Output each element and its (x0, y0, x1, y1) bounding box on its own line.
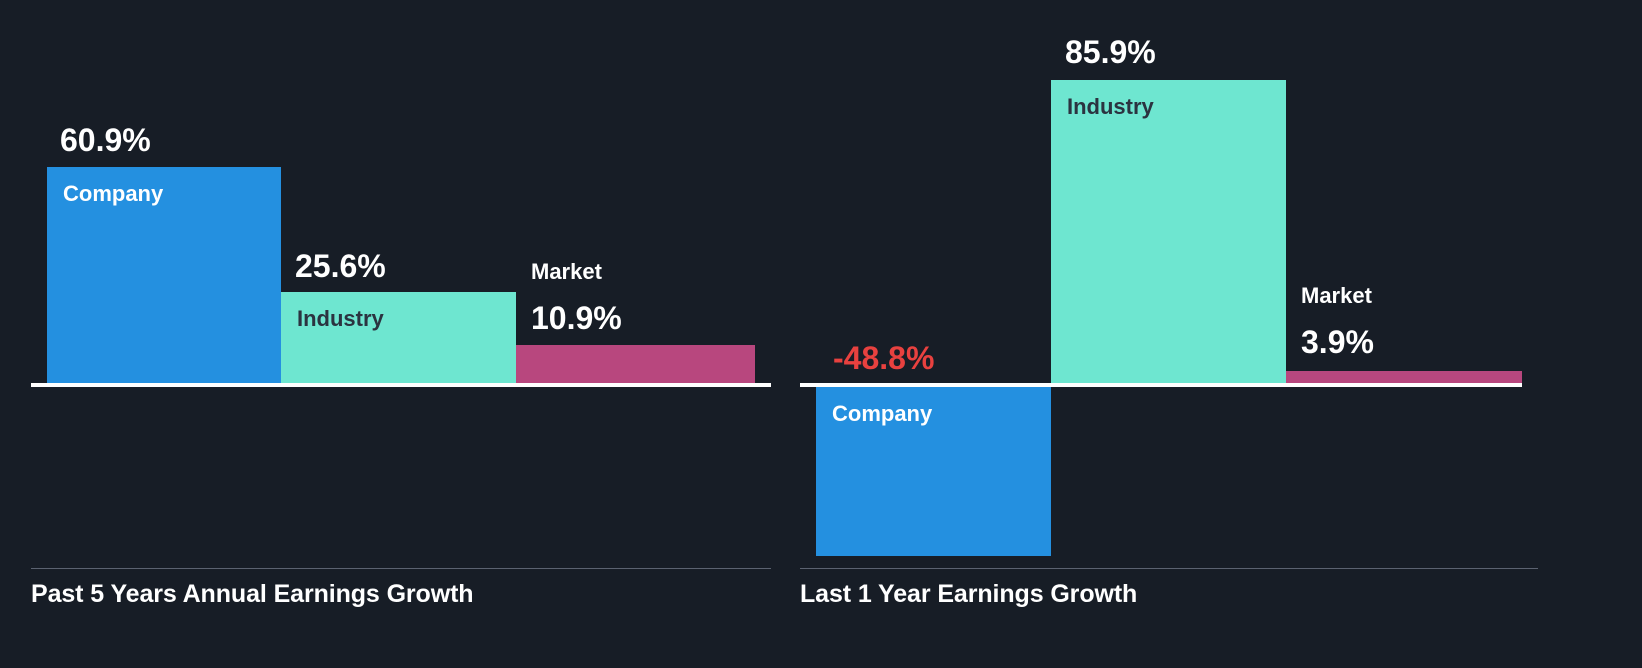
zero-baseline-left (31, 383, 771, 387)
plot-area-left: Company 60.9% Industry 25.6% Market 10.9… (0, 0, 800, 585)
earnings-growth-chart-figure: Company 60.9% Industry 25.6% Market 10.9… (0, 0, 1642, 668)
bar-label-company-left: Company (63, 181, 163, 207)
bar-value-market-left: 10.9% (531, 300, 622, 337)
chart-title-right: Last 1 Year Earnings Growth (800, 580, 1137, 609)
bar-company-right[interactable]: Company (816, 387, 1051, 556)
bar-value-company-right: -48.8% (833, 340, 934, 377)
panel-divider-left (31, 568, 771, 569)
panel-divider-right (800, 568, 1538, 569)
bar-label-company-right: Company (832, 401, 932, 427)
chart-panel-last-1-year: Company -48.8% Industry 85.9% Market 3.9… (800, 0, 1642, 668)
bar-industry-right[interactable]: Industry (1051, 80, 1286, 385)
chart-title-left: Past 5 Years Annual Earnings Growth (31, 580, 473, 609)
plot-area-right: Company -48.8% Industry 85.9% Market 3.9… (800, 0, 1642, 585)
bar-label-market-right: Market (1301, 283, 1372, 309)
bar-rect-market-left (516, 345, 755, 385)
bar-label-market-left: Market (531, 259, 602, 285)
chart-panel-past-5-years: Company 60.9% Industry 25.6% Market 10.9… (0, 0, 800, 668)
bar-value-company-left: 60.9% (60, 122, 151, 159)
bar-industry-left[interactable]: Industry (281, 292, 516, 385)
bar-value-industry-right: 85.9% (1065, 34, 1156, 71)
bar-label-industry-right: Industry (1067, 94, 1154, 120)
bar-company-left[interactable]: Company (47, 167, 281, 385)
bar-rect-industry-right (1051, 80, 1286, 385)
zero-baseline-right (800, 383, 1522, 387)
bar-value-industry-left: 25.6% (295, 248, 386, 285)
bar-market-left[interactable] (516, 345, 755, 385)
bar-label-industry-left: Industry (297, 306, 384, 332)
bar-value-market-right: 3.9% (1301, 324, 1374, 361)
